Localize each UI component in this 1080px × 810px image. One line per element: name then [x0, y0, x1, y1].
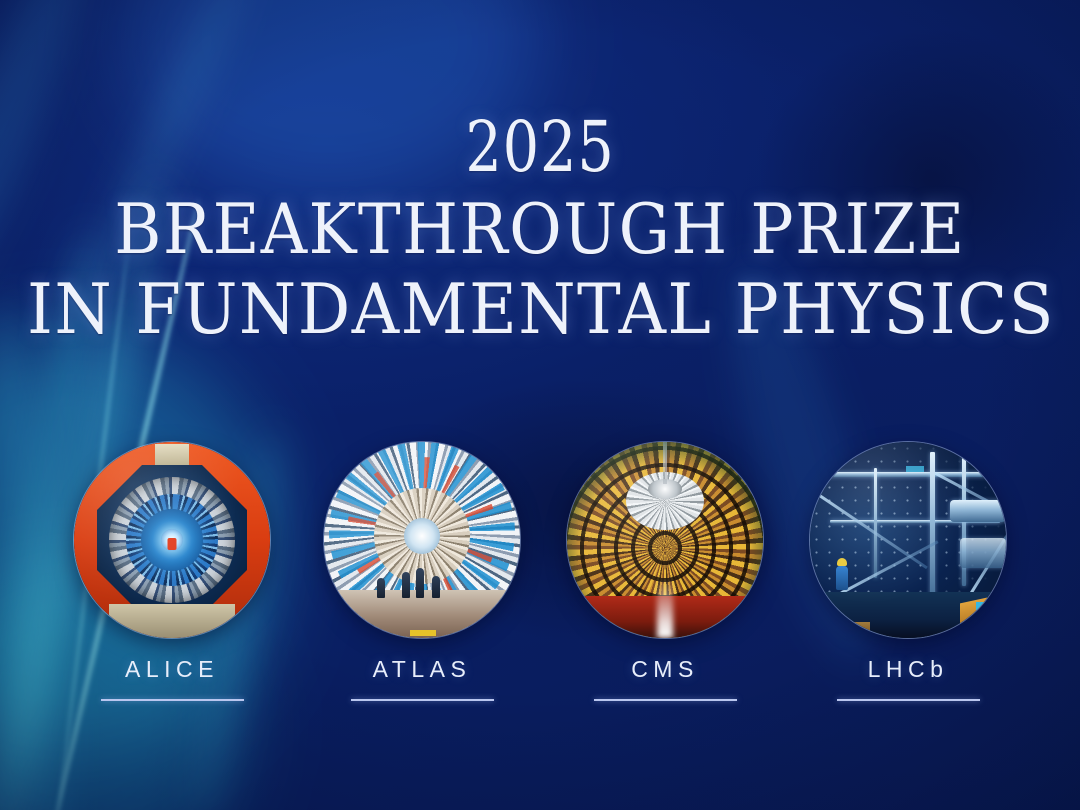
experiment-card-cms[interactable]: CMS [567, 442, 763, 701]
title-year: 2025 [97, 112, 983, 182]
experiment-row: ALICE [0, 442, 1080, 742]
atlas-beam-core [404, 518, 440, 554]
experiment-underline-lhcb [837, 699, 980, 701]
atlas-person [416, 568, 424, 598]
experiment-label-alice: ALICE [74, 656, 270, 683]
atlas-person [402, 572, 410, 598]
cms-light-beam [657, 578, 673, 638]
title-line-2: IN FUNDAMENTAL PHYSICS [27, 276, 1053, 345]
lhcb-equipment-block [960, 538, 1006, 568]
experiment-label-cms: CMS [567, 656, 763, 683]
lhcb-cyan-marker [976, 602, 998, 610]
atlas-person [377, 578, 385, 598]
title-line-1: BREAKTHROUGH PRIZE [38, 196, 1042, 265]
experiment-underline-cms [594, 699, 737, 701]
lhcb-detector-image [810, 442, 1006, 638]
alice-detector-image [74, 442, 270, 638]
experiment-card-alice[interactable]: ALICE [74, 442, 270, 701]
lhcb-beam-horizontal [816, 472, 1006, 477]
lhcb-cyan-marker [906, 466, 924, 472]
lhcb-worker-helmet [837, 558, 847, 566]
atlas-people-group [324, 554, 520, 598]
lhcb-beam-vertical [874, 468, 877, 578]
alice-platform [109, 604, 234, 638]
atlas-detector-image [324, 442, 520, 638]
experiment-underline-atlas [351, 699, 494, 701]
experiment-card-lhcb[interactable]: LHCb [810, 442, 1006, 701]
atlas-yellow-marking [410, 630, 436, 636]
alice-red-marker [168, 538, 177, 550]
breakthrough-prize-poster: 2025 BREAKTHROUGH PRIZE IN FUNDAMENTAL P… [0, 0, 1080, 810]
lhcb-worker-body [836, 566, 848, 590]
atlas-person [432, 576, 440, 598]
lhcb-equipment-block [950, 500, 1006, 522]
cms-detector-image [567, 442, 763, 638]
experiment-underline-alice [101, 699, 244, 701]
lhcb-orange-panel [826, 622, 870, 638]
experiment-label-lhcb: LHCb [810, 656, 1006, 683]
poster-title: 2025 BREAKTHROUGH PRIZE IN FUNDAMENTAL P… [0, 112, 1080, 345]
experiment-card-atlas[interactable]: ATLAS [324, 442, 520, 701]
experiment-label-atlas: ATLAS [324, 656, 520, 683]
